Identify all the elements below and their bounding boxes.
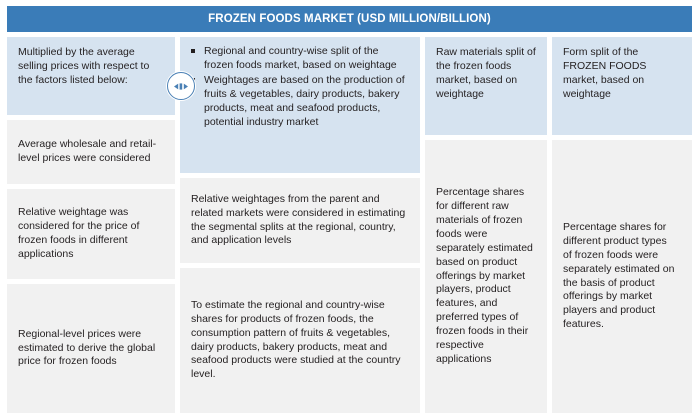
square-bullet-icon bbox=[191, 49, 195, 53]
column-pricing-factors: Multiplied by the average selling prices… bbox=[7, 37, 175, 413]
column-form-split: Form split of the FROZEN FOODS market, b… bbox=[552, 37, 692, 413]
column-regional-country-split: Regional and country-wise split of the f… bbox=[180, 37, 420, 413]
card-form-split: Form split of the FROZEN FOODS market, b… bbox=[552, 37, 692, 135]
card-text: Multiplied by the average selling prices… bbox=[18, 46, 165, 88]
list-item-label: Weightages are based on the production o… bbox=[204, 74, 405, 128]
card-raw-materials-split: Raw materials split of the frozen foods … bbox=[425, 37, 547, 135]
frozen-foods-market-methodology-diagram: FROZEN FOODS MARKET (USD MILLION/BILLION… bbox=[0, 0, 699, 417]
column-raw-materials-split: Raw materials split of the frozen foods … bbox=[425, 37, 547, 413]
card-percentage-shares-raw-materials: Percentage shares for different raw mate… bbox=[425, 140, 547, 413]
card-text: Percentage shares for different product … bbox=[563, 221, 682, 332]
card-text: Relative weightages from the parent and … bbox=[191, 193, 410, 248]
card-multiplied-avg-selling-prices: Multiplied by the average selling prices… bbox=[7, 37, 175, 115]
header-bar: FROZEN FOODS MARKET (USD MILLION/BILLION… bbox=[7, 6, 692, 32]
card-text: Raw materials split of the frozen foods … bbox=[436, 46, 537, 101]
card-regional-level-prices: Regional-level prices were estimated to … bbox=[7, 284, 175, 413]
card-text: To estimate the regional and country-wis… bbox=[191, 299, 410, 382]
card-relative-weightage-applications: Relative weightage was considered for th… bbox=[7, 189, 175, 279]
card-text: Regional-level prices were estimated to … bbox=[18, 328, 165, 370]
card-text: Form split of the FROZEN FOODS market, b… bbox=[563, 46, 682, 101]
list-item: Weightages are based on the production o… bbox=[191, 74, 410, 130]
card-consumption-pattern-country-level: To estimate the regional and country-wis… bbox=[180, 268, 420, 413]
page-title: FROZEN FOODS MARKET (USD MILLION/BILLION… bbox=[208, 13, 491, 25]
list-item-label: Regional and country-wise split of the f… bbox=[204, 45, 397, 71]
card-regional-country-split-bullets: Regional and country-wise split of the f… bbox=[180, 37, 420, 173]
card-wholesale-retail-prices: Average wholesale and retail-level price… bbox=[7, 120, 175, 184]
columns-container: Multiplied by the average selling prices… bbox=[7, 37, 692, 413]
list-item: Regional and country-wise split of the f… bbox=[191, 45, 410, 73]
left-right-arrow-icon bbox=[167, 72, 195, 100]
bullet-list: Regional and country-wise split of the f… bbox=[191, 45, 410, 130]
card-relative-weightages-parent-markets: Relative weightages from the parent and … bbox=[180, 178, 420, 263]
card-percentage-shares-product-types: Percentage shares for different product … bbox=[552, 140, 692, 413]
card-text: Percentage shares for different raw mate… bbox=[436, 186, 537, 366]
card-text: Relative weightage was considered for th… bbox=[18, 206, 165, 261]
card-text: Average wholesale and retail-level price… bbox=[18, 138, 165, 166]
